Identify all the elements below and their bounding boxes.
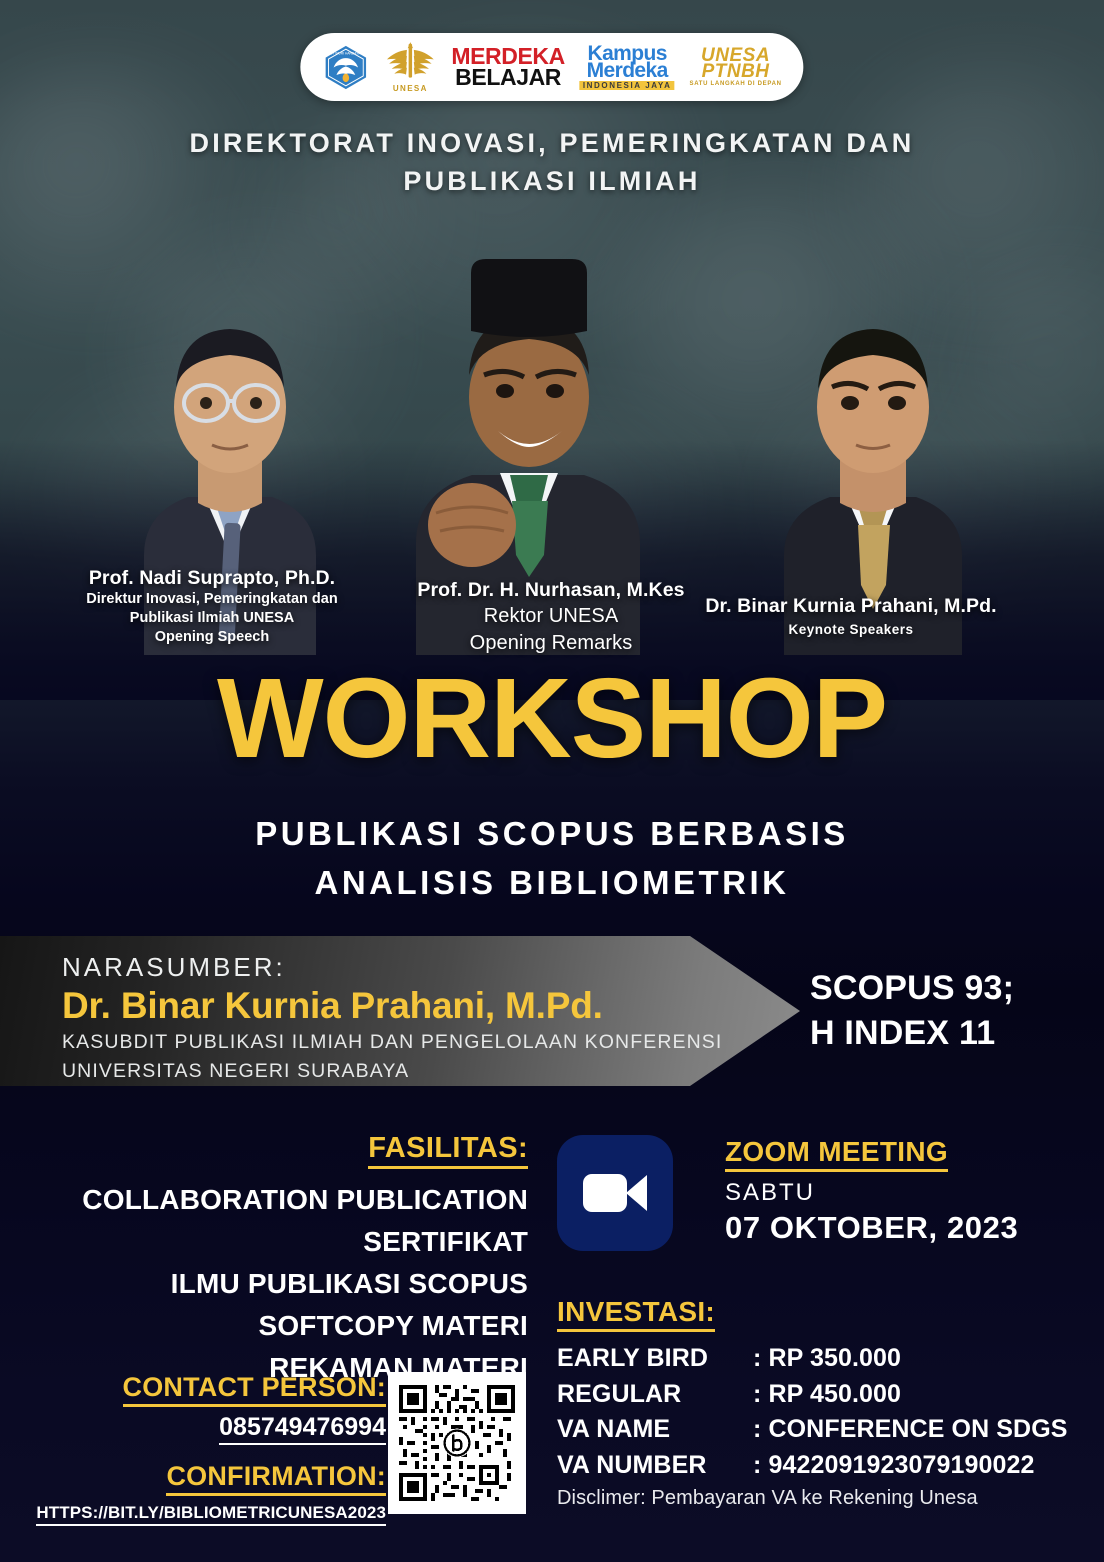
unesa-garuda-icon: [384, 41, 436, 83]
investasi-value: : RP 450.000: [753, 1377, 1087, 1413]
video-camera-icon: [583, 1174, 647, 1212]
unesa-ptnbh-logo: UNESA PTNBH SATU LANGKAH DI DEPAN: [689, 47, 781, 87]
investasi-key: VA NUMBER: [557, 1448, 753, 1484]
merdeka-belajar-line2: BELAJAR: [455, 67, 561, 88]
svg-text:TUT WURI HANDAYANI: TUT WURI HANDAYANI: [328, 51, 364, 55]
narasumber-label: NARASUMBER:: [62, 952, 722, 983]
scopus-metrics: SCOPUS 93; H INDEX 11: [810, 966, 1080, 1056]
speaker-1-name: Prof. Nadi Suprapto, Ph.D.: [22, 566, 402, 590]
event-day: SABTU: [725, 1179, 1018, 1207]
confirmation-title-wrap: CONFIRMATION:: [16, 1445, 386, 1496]
contact-phone-wrap: 085749476994: [16, 1407, 386, 1445]
speaker-caption-3: Dr. Binar Kurnia Prahani, M.Pd. Keynote …: [692, 594, 1010, 639]
investasi-title: INVESTASI:: [557, 1296, 715, 1332]
speaker-3-name: Dr. Binar Kurnia Prahani, M.Pd.: [692, 594, 1010, 618]
speaker-2-name: Prof. Dr. H. Nurhasan, M.Kes: [396, 578, 706, 602]
directorate-header-line1: DIREKTORAT INOVASI, PEMERINGKATAN DAN: [0, 124, 1104, 162]
directorate-header: DIREKTORAT INOVASI, PEMERINGKATAN DAN PU…: [0, 124, 1104, 201]
tut-wuri-handayani-logo: TUT WURI HANDAYANI: [322, 44, 369, 91]
fasilitas-item: SERTIFIKAT: [28, 1221, 528, 1263]
kampus-merdeka-line2: Merdeka: [587, 61, 668, 80]
speaker-1-role-line3: Opening Speech: [22, 628, 402, 647]
speaker-1-role-line2: Publikasi Ilmiah UNESA: [22, 609, 402, 628]
kampus-merdeka-logo: Kampus Merdeka INDONESIA JAYA: [580, 44, 675, 91]
contact-phone[interactable]: 085749476994: [219, 1413, 386, 1445]
investasi-row: EARLY BIRD : RP 350.000: [557, 1341, 1087, 1377]
investasi-disclaimer: Disclimer: Pembayaran VA ke Rekening Une…: [557, 1487, 1087, 1510]
investasi-title-wrap: INVESTASI:: [557, 1296, 1087, 1332]
narasumber-name: Dr. Binar Kurnia Prahani, M.Pd.: [62, 986, 722, 1027]
fasilitas-title: FASILITAS:: [368, 1132, 528, 1169]
investasi-value: : CONFERENCE ON SDGS: [753, 1412, 1087, 1448]
investasi-value: : RP 350.000: [753, 1341, 1087, 1377]
investasi-row: REGULAR : RP 450.000: [557, 1377, 1087, 1413]
kampus-merdeka-tagline: INDONESIA JAYA: [580, 81, 675, 90]
poster-canvas: TUT WURI HANDAYANI: [0, 0, 1104, 1562]
h-index: H INDEX 11: [810, 1011, 1080, 1056]
page-title: WORKSHOP: [0, 662, 1104, 775]
subtitle-line1: PUBLIKASI SCOPUS BERBASIS: [0, 810, 1104, 859]
confirmation-link[interactable]: HTTPS://BIT.LY/BIBLIOMETRICUNESA2023: [36, 1503, 386, 1526]
event-date: 07 OKTOBER, 2023: [725, 1210, 1018, 1246]
contact-title-wrap: CONTACT PERSON:: [16, 1372, 386, 1407]
investasi-section: INVESTASI: EARLY BIRD : RP 350.000 REGUL…: [557, 1296, 1087, 1510]
merdeka-belajar-logo: MERDEKA BELAJAR: [451, 46, 564, 88]
confirmation-title: CONFIRMATION:: [166, 1461, 386, 1496]
subtitle-line2: ANALISIS BIBLIOMETRIK: [0, 859, 1104, 908]
speaker-1-role-line1: Direktur Inovasi, Pemeringkatan dan: [22, 590, 402, 609]
zoom-title-wrap: ZOOM MEETING: [725, 1136, 1018, 1172]
fasilitas-title-wrap: FASILITAS:: [28, 1132, 528, 1169]
contact-person-title: CONTACT PERSON:: [123, 1372, 387, 1407]
fasilitas-item: SOFTCOPY MATERI: [28, 1305, 528, 1347]
fasilitas-list: COLLABORATION PUBLICATION SERTIFIKAT ILM…: [28, 1179, 528, 1389]
narasumber-position: KASUBDIT PUBLIKASI ILMIAH DAN PENGELOLAA…: [62, 1029, 722, 1056]
investasi-row: VA NUMBER : 9422091923079190022: [557, 1448, 1087, 1484]
speaker-2-role-line2: Opening Remarks: [396, 631, 706, 656]
fasilitas-section: FASILITAS: COLLABORATION PUBLICATION SER…: [28, 1132, 528, 1389]
narasumber-institution: UNIVERSITAS NEGERI SURABAYA: [62, 1058, 722, 1085]
contact-section: CONTACT PERSON: 085749476994 CONFIRMATIO…: [16, 1372, 386, 1526]
speaker-2-role-line1: Rektor UNESA: [396, 604, 706, 629]
investasi-rows: EARLY BIRD : RP 350.000 REGULAR : RP 450…: [557, 1341, 1087, 1483]
zoom-icon: [557, 1135, 673, 1251]
page-subtitle: PUBLIKASI SCOPUS BERBASIS ANALISIS BIBLI…: [0, 810, 1104, 908]
directorate-header-line2: PUBLIKASI ILMIAH: [0, 162, 1104, 200]
fasilitas-item: COLLABORATION PUBLICATION: [28, 1179, 528, 1221]
investasi-key: VA NAME: [557, 1412, 753, 1448]
qr-code-icon: [399, 1383, 515, 1503]
zoom-meeting-info: ZOOM MEETING SABTU 07 OKTOBER, 2023: [725, 1136, 1018, 1246]
investasi-row: VA NAME : CONFERENCE ON SDGS: [557, 1412, 1087, 1448]
unesa-ptnbh-line2: PTNBH: [702, 63, 770, 81]
unesa-logo-caption: UNESA: [393, 84, 428, 93]
speaker-caption-1: Prof. Nadi Suprapto, Ph.D. Direktur Inov…: [22, 566, 402, 647]
unesa-ptnbh-tagline: SATU LANGKAH DI DEPAN: [689, 82, 781, 88]
fasilitas-item: ILMU PUBLIKASI SCOPUS: [28, 1263, 528, 1305]
narasumber-text-group: NARASUMBER: Dr. Binar Kurnia Prahani, M.…: [62, 952, 722, 1085]
zoom-meeting-title: ZOOM MEETING: [725, 1136, 948, 1172]
investasi-value: : 9422091923079190022: [753, 1448, 1087, 1484]
investasi-key: EARLY BIRD: [557, 1341, 753, 1377]
speaker-3-role-line1: Keynote Speakers: [692, 621, 1010, 639]
unesa-garuda-logo: UNESA: [384, 41, 436, 93]
speaker-caption-2: Prof. Dr. H. Nurhasan, M.Kes Rektor UNES…: [396, 578, 706, 656]
investasi-key: REGULAR: [557, 1377, 753, 1413]
qr-code[interactable]: [388, 1372, 526, 1514]
tut-wuri-handayani-icon: TUT WURI HANDAYANI: [322, 44, 369, 91]
confirmation-link-wrap: HTTPS://BIT.LY/BIBLIOMETRICUNESA2023: [16, 1496, 386, 1526]
scopus-count: SCOPUS 93;: [810, 966, 1080, 1011]
partner-logo-bar: TUT WURI HANDAYANI: [300, 33, 803, 101]
